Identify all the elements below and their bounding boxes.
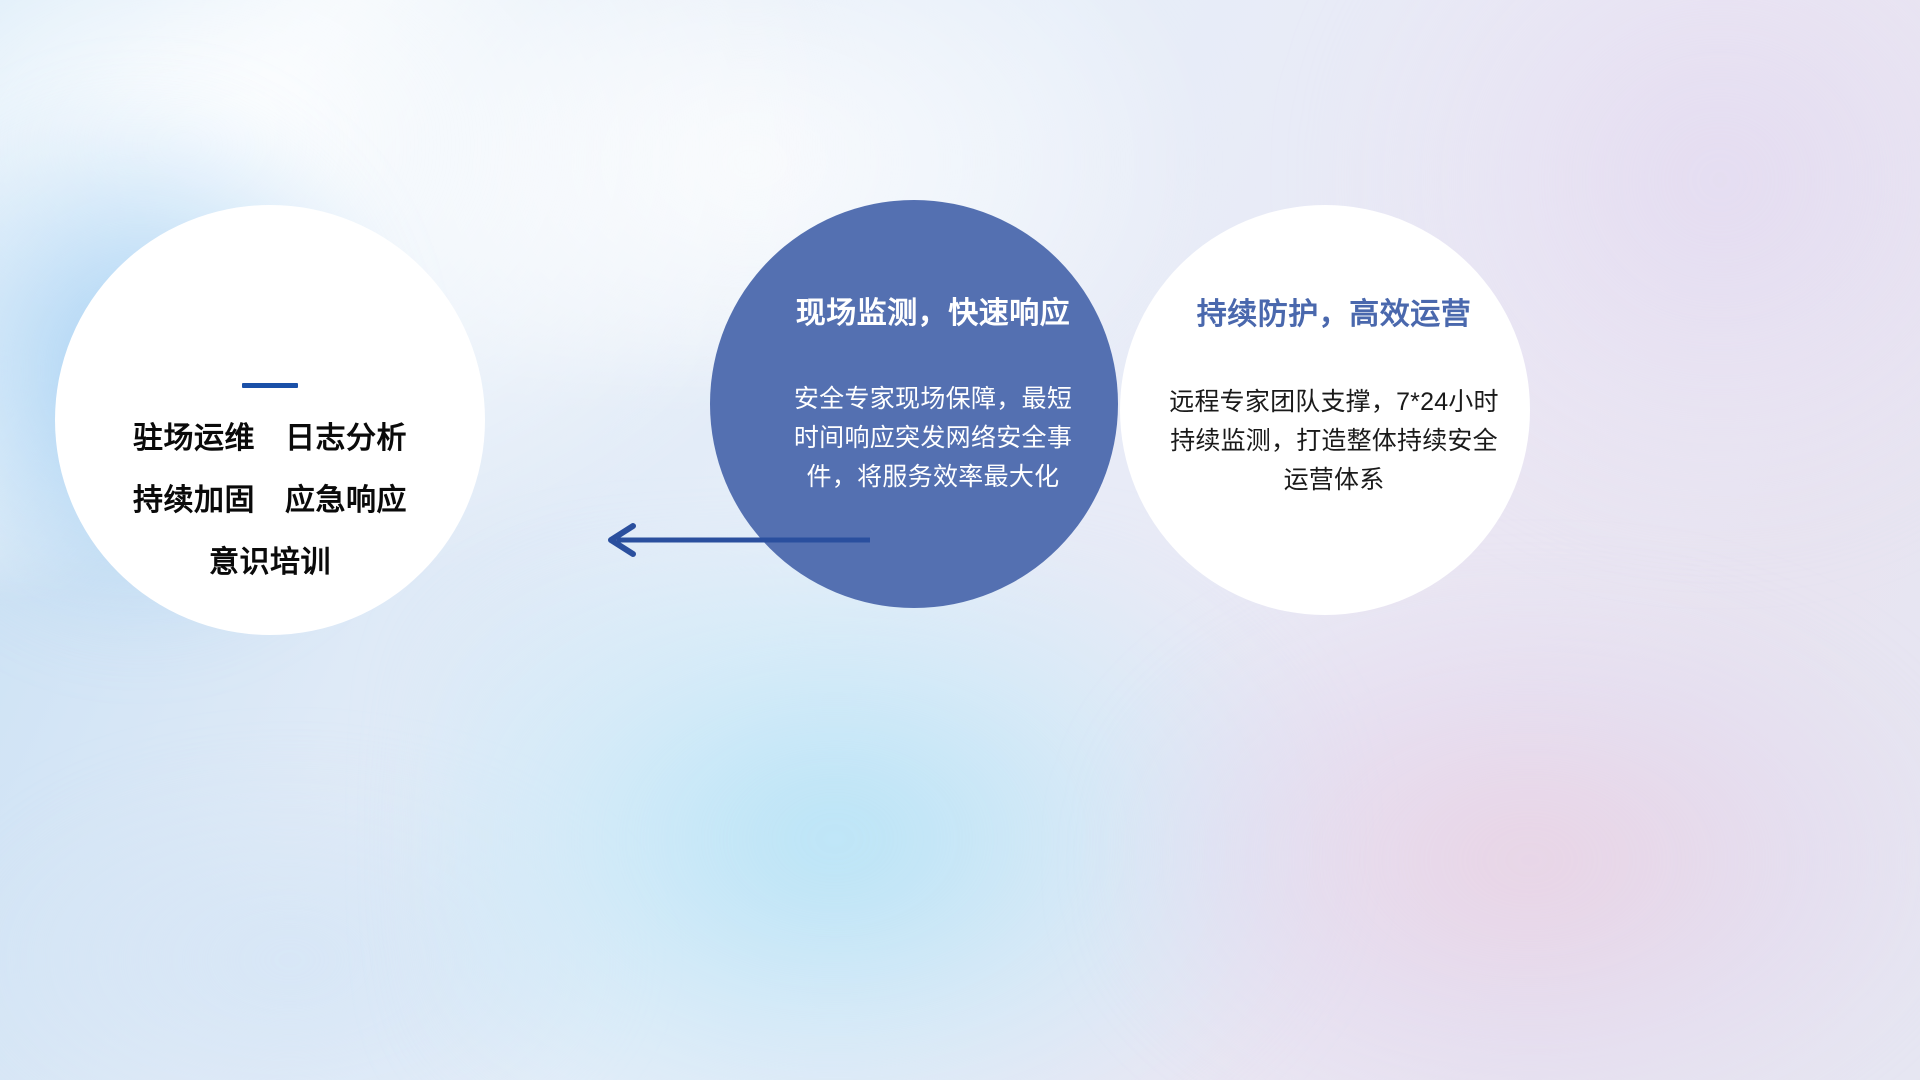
keyword-row: 意识培训 [209, 548, 331, 578]
divider-rule [242, 383, 298, 388]
center-circle-body: 安全专家现场保障，最短时间响应突发网络安全事件，将服务效率最大化 [790, 380, 1076, 497]
right-circle-title: 持续防护，高效运营 [1197, 297, 1472, 333]
slide-canvas: 驻场运维 日志分析 持续加固 应急响应 意识培训 现场监测，快速响应 安全专家现… [0, 0, 1920, 1080]
keyword-item: 持续加固 [133, 486, 255, 516]
center-circle-title: 现场监测，快速响应 [796, 296, 1071, 332]
background-glow-pink-bottom-right [1120, 600, 1920, 1080]
keyword-item: 驻场运维 [133, 424, 255, 454]
center-circle-content: 现场监测，快速响应 安全专家现场保障，最短时间响应突发网络安全事件，将服务效率最… [710, 200, 1118, 608]
keyword-item: 应急响应 [285, 486, 407, 516]
right-circle-body: 远程专家团队支撑，7*24小时持续监测，打造整体持续安全运营体系 [1159, 383, 1509, 500]
left-circle-content: 驻场运维 日志分析 持续加固 应急响应 意识培训 [55, 205, 485, 635]
keyword-item: 日志分析 [285, 424, 407, 454]
right-circle-content: 持续防护，高效运营 远程专家团队支撑，7*24小时持续监测，打造整体持续安全运营… [1120, 205, 1530, 615]
keyword-item: 意识培训 [209, 548, 331, 578]
keyword-row: 驻场运维 日志分析 [133, 424, 407, 454]
keyword-row: 持续加固 应急响应 [133, 486, 407, 516]
